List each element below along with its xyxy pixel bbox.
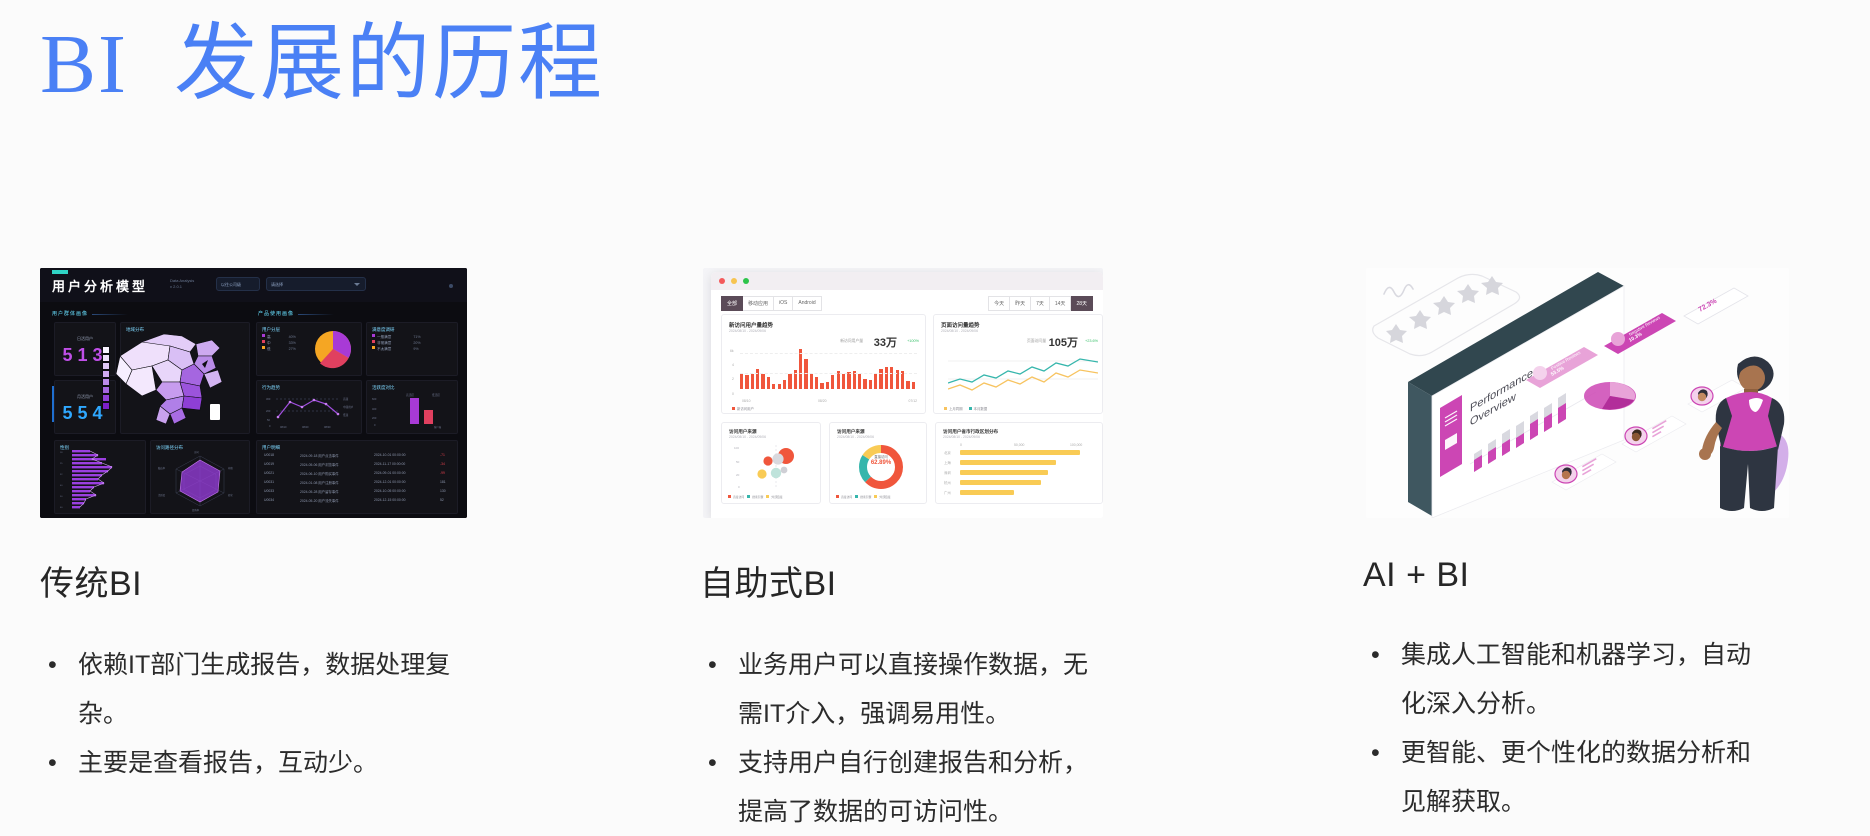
map-legend-scale <box>102 346 110 410</box>
bar <box>815 377 818 389</box>
hbar <box>960 490 1014 495</box>
metric-value: 105万 <box>1049 334 1078 350</box>
tab-mobile[interactable]: 移动应用 <box>743 296 774 311</box>
table-row: U00212024-06-10 用户购买事件2024-09-01 00:00:0… <box>264 470 450 478</box>
panel-title: 页面访问量趋势 <box>941 321 980 329</box>
metric-label: 页面访问量 <box>1027 339 1046 344</box>
section-label-left: 用户群体画像 <box>52 310 88 317</box>
tab-14days[interactable]: 14天 <box>1050 296 1072 311</box>
panel-title: 用户明细 <box>262 445 280 451</box>
svg-text:08/10: 08/10 <box>280 425 287 429</box>
svg-text:活跃度: 活跃度 <box>158 493 166 497</box>
filter-label-pill[interactable]: 以往公司级 <box>216 277 260 291</box>
scatter-chart-visitor-source: 10050200 <box>732 443 818 491</box>
metric-delta: +23.6% <box>1085 339 1098 343</box>
svg-text:20: 20 <box>736 473 740 477</box>
svg-text:复购率: 复购率 <box>192 508 200 512</box>
x-tick: 0 <box>960 443 962 447</box>
svg-text:60: 60 <box>60 507 63 509</box>
brand-mark <box>52 270 68 274</box>
close-icon[interactable] <box>719 278 725 284</box>
list-item: 支持用户自行创建报告和分析，提高了数据的可访问性。 <box>700 739 1100 836</box>
panel-subtitle: 2024/08/10 - 2024/09/06 <box>837 435 874 439</box>
svg-text:08/20: 08/20 <box>302 425 309 429</box>
list-item: 业务用户可以直接操作数据，无需IT介入，强调易用性。 <box>700 641 1100 739</box>
table-row: U00312024-01-08 用户注册事件2024-12-01 00:00:0… <box>264 479 450 487</box>
chevron-down-icon <box>354 283 360 286</box>
screen-sidebar <box>1440 395 1462 477</box>
bar <box>778 384 781 389</box>
bar <box>906 381 909 389</box>
svg-text:触达率: 触达率 <box>158 466 166 470</box>
hbar <box>960 450 1080 455</box>
section-label-right: 产品使用画像 <box>258 310 294 317</box>
settings-dot-icon[interactable] <box>449 284 453 288</box>
bar <box>831 375 834 389</box>
maximize-icon[interactable] <box>743 278 749 284</box>
bar-chart-activity-compare: 6004002000 高活跃低活跃 客户端 <box>372 388 454 430</box>
bar <box>885 367 888 389</box>
column-heading-self-service-bi: 自助式BI <box>700 556 1170 605</box>
thumbnail-ai-plus-bi: Performance Overview <box>1366 268 1789 518</box>
svg-text:转化: 转化 <box>228 493 233 497</box>
kpi-label: 日活用户 <box>55 336 115 342</box>
line-chart-pageviews <box>948 349 1098 399</box>
columns-container: 用户分析模型 Data Analysisv 2.0.1 以往公司级 请选择 用户… <box>0 268 1870 828</box>
svg-text:0: 0 <box>374 423 376 427</box>
svg-text:08/30: 08/30 <box>324 425 331 429</box>
bar <box>804 359 807 389</box>
bar <box>783 380 786 389</box>
list-item: 集成人工智能和机器学习，自动化深入分析。 <box>1363 631 1763 729</box>
donut-center-value: 62.89% <box>857 460 905 466</box>
bar <box>869 380 872 389</box>
svg-text:200: 200 <box>266 409 271 413</box>
hbar-chart-regions: 北京上海深圳杭州广州 <box>944 450 1096 500</box>
svg-text:50: 50 <box>736 460 740 464</box>
radar-chart-path: 访问停留转化 复购率活跃度触达率 <box>152 448 248 512</box>
bar <box>810 374 813 389</box>
platform-tabs[interactable]: 全部 移动应用 iOS Android <box>721 296 822 311</box>
pyramid-bar-chart-gender: 182532 405060 <box>58 448 142 512</box>
svg-text:0: 0 <box>738 485 740 489</box>
chart-legend: 上月同期本月数据 <box>944 406 987 411</box>
bar <box>788 374 791 389</box>
svg-text:200: 200 <box>372 416 377 420</box>
bar <box>847 372 850 389</box>
bar <box>826 382 829 389</box>
bullet-list-ai-plus-bi: 集成人工智能和机器学习，自动化深入分析。 更智能、更个性化的数据分析和见解获取。 <box>1363 631 1763 827</box>
bullet-list-traditional-bi: 依赖IT部门生成报告，数据处理复杂。 主要是查看报告，互动少。 <box>40 641 480 788</box>
chart-legend: 直接访问搜索引擎外部链接 <box>836 495 891 499</box>
section-divider-left <box>92 314 128 315</box>
svg-text:100: 100 <box>734 446 739 450</box>
bar <box>761 374 764 389</box>
bar <box>799 349 802 389</box>
svg-text:40: 40 <box>60 485 63 487</box>
browser-window: 全部 移动应用 iOS Android 今天 昨天 7天 14天 28天 <box>711 272 1103 518</box>
pie-chart-user-tier <box>312 328 354 370</box>
dashboard-title: 用户分析模型 <box>52 276 148 295</box>
panel-subtitle: 2024/08/10 - 2024/09/06 <box>941 329 978 333</box>
svg-text:低活跃: 低活跃 <box>432 393 440 397</box>
panel-subtitle: 2024/08/10 - 2024/09/06 <box>729 329 766 333</box>
table-row: U00342024-05-20 用户流失事件2024-12-15 00:00:0… <box>264 497 450 505</box>
panel-title: 满意度调研 <box>372 327 395 333</box>
panel-pageview-trend: 页面访问量趋势 2024/08/10 - 2024/09/06 页面访问量 10… <box>933 314 1103 414</box>
satisfaction-legend: 一般满意71% 非常满意20% 不太满意9% <box>372 334 421 352</box>
bar <box>890 367 893 389</box>
list-item: 主要是查看报告，互动少。 <box>40 739 480 788</box>
column-heading-traditional-bi: 传统BI <box>40 556 480 605</box>
tab-all[interactable]: 全部 <box>721 296 743 311</box>
svg-text:18: 18 <box>60 452 63 454</box>
tab-ios[interactable]: iOS <box>774 296 793 311</box>
hbar <box>960 460 1056 465</box>
svg-text:32: 32 <box>60 474 63 476</box>
bar <box>874 374 877 389</box>
panel-visitor-source-donut: 访问用户来源 2024/08/10 - 2024/09/06 直接访问 62.8… <box>829 422 927 504</box>
svg-text:停留: 停留 <box>228 466 233 470</box>
panel-title: 用户分层 <box>262 327 280 333</box>
chart-legend: 直接访问搜索引擎外部链接 <box>728 495 783 499</box>
svg-text:300: 300 <box>266 397 271 401</box>
filter-select[interactable]: 请选择 <box>266 277 366 291</box>
card-percentage: 72.3% <box>1684 288 1748 324</box>
bar <box>863 379 866 389</box>
screen-left-edge <box>1408 382 1432 516</box>
column-self-service-bi: 全部 移动应用 iOS Android 今天 昨天 7天 14天 28天 <box>700 268 1170 836</box>
date-range-tabs[interactable]: 今天 昨天 7天 14天 28天 <box>988 296 1093 311</box>
tab-android[interactable]: Android <box>793 296 821 311</box>
donut-chart-visitor-source <box>857 443 905 491</box>
svg-text:50: 50 <box>60 496 63 498</box>
page-title: BI 发展的历程 <box>40 12 604 117</box>
list-item: 依赖IT部门生成报告，数据处理复杂。 <box>40 641 480 739</box>
chart-legend: 新访问用户 <box>732 406 754 411</box>
thumbnail-self-service-bi: 全部 移动应用 iOS Android 今天 昨天 7天 14天 28天 <box>703 268 1103 518</box>
svg-text:25: 25 <box>60 463 63 465</box>
tab-28days[interactable]: 28天 <box>1071 296 1093 311</box>
pie-legend: 高40% 中33% 低27% <box>262 334 296 352</box>
hbar-label: 北京 <box>944 450 951 455</box>
bar <box>751 374 754 389</box>
panel-subtitle: 2024/08/10 - 2024/09/06 <box>943 435 980 439</box>
svg-text:400: 400 <box>372 407 377 411</box>
list-item: 更智能、更个性化的数据分析和见解获取。 <box>1363 729 1763 827</box>
x-tick: 100,000 <box>1070 443 1082 447</box>
panel-subtitle: 2024/08/10 - 2024/09/06 <box>729 435 766 439</box>
column-traditional-bi: 用户分析模型 Data Analysisv 2.0.1 以往公司级 请选择 用户… <box>40 268 480 788</box>
bar <box>740 373 743 389</box>
hbar <box>960 470 1048 475</box>
panel-visitor-source-scatter: 访问用户来源 2024/08/10 - 2024/09/06 <box>721 422 821 504</box>
panel-new-visitor-trend: 新访问用户量趋势 2024/08/10 - 2024/09/06 新访问用户量 … <box>721 314 926 414</box>
china-map-chart <box>112 326 230 430</box>
svg-text:中频用户: 中频用户 <box>343 405 354 409</box>
ai-isometric-illustration: Performance Overview <box>1366 268 1789 518</box>
svg-text:50: 50 <box>267 418 270 422</box>
thumbnail-traditional-bi: 用户分析模型 Data Analysisv 2.0.1 以往公司级 请选择 用户… <box>40 268 467 518</box>
bar <box>756 369 759 389</box>
bar <box>767 377 770 389</box>
hbar <box>960 480 1041 485</box>
window-titlebar <box>711 272 1103 290</box>
svg-text:客户端: 客户端 <box>434 425 442 429</box>
svg-text:0: 0 <box>269 424 271 428</box>
bar <box>772 384 775 389</box>
x-tick: 08/10 <box>742 399 751 403</box>
tab-7days[interactable]: 7天 <box>1031 296 1050 311</box>
panel-region-distribution: 访问用户省市行政区划分布 2024/08/10 - 2024/09/06 0 5… <box>935 422 1103 504</box>
svg-text:低频: 低频 <box>343 413 349 417</box>
hbar-label: 上海 <box>944 460 951 465</box>
column-heading-ai-plus-bi: AI + BI <box>1363 556 1833 595</box>
dashboard-meta: Data Analysisv 2.0.1 <box>170 278 194 290</box>
bar <box>858 374 861 389</box>
svg-text:高频: 高频 <box>343 397 349 401</box>
donut-center-label: 直接访问 <box>857 454 905 459</box>
line-chart-behavior-trend: 300200500 08/1008/2008/30 高频中频用户低频 <box>262 390 358 430</box>
person-illustration <box>1699 356 1788 511</box>
hbar-label: 杭州 <box>944 480 951 485</box>
table-row: U00192024-05-06 用户浏览事件2024-11-17 00:00:0… <box>264 461 450 469</box>
bar <box>842 374 845 389</box>
svg-text:访问: 访问 <box>194 450 199 454</box>
hbar-label: 广州 <box>944 490 951 495</box>
tab-yesterday[interactable]: 昨天 <box>1010 296 1031 311</box>
x-tick: 07/12 <box>909 399 918 403</box>
metric-delta: +100% <box>907 339 919 343</box>
panel-title: 新访问用户量趋势 <box>729 321 773 329</box>
svg-text:600: 600 <box>372 397 377 401</box>
slide-root: BI 发展的历程 用户分析模型 Data Analysisv 2.0.1 以往公… <box>0 0 1870 836</box>
svg-text:高活跃: 高活跃 <box>406 393 414 397</box>
x-tick: 50,000 <box>1014 443 1024 447</box>
column-ai-plus-bi: Performance Overview <box>1363 268 1833 827</box>
metric-label: 新访问用户量 <box>840 339 863 344</box>
table-row: U00332024-05-28 用户留存事件2024-10-05 00:00:0… <box>264 488 450 496</box>
minimize-icon[interactable] <box>731 278 737 284</box>
bullet-list-self-service-bi: 业务用户可以直接操作数据，无需IT介入，强调易用性。 支持用户自行创建报告和分析… <box>700 641 1100 836</box>
bar <box>745 375 748 389</box>
metric-value: 33万 <box>874 334 897 350</box>
tab-today[interactable]: 今天 <box>988 296 1010 311</box>
section-divider-right <box>298 314 334 315</box>
screen-pie-chart <box>1584 382 1636 410</box>
bar <box>820 383 823 389</box>
table-user-detail: U00182024-09-18 用户点击事件2024-10-01 00:00:0… <box>260 452 454 510</box>
bar <box>912 382 915 389</box>
hbar-label: 深圳 <box>944 470 951 475</box>
bar <box>879 369 882 389</box>
x-tick: 08/20 <box>818 399 827 403</box>
squiggle-decoration <box>1384 285 1413 297</box>
table-row: U00182024-09-18 用户点击事件2024-10-01 00:00:0… <box>264 452 450 460</box>
